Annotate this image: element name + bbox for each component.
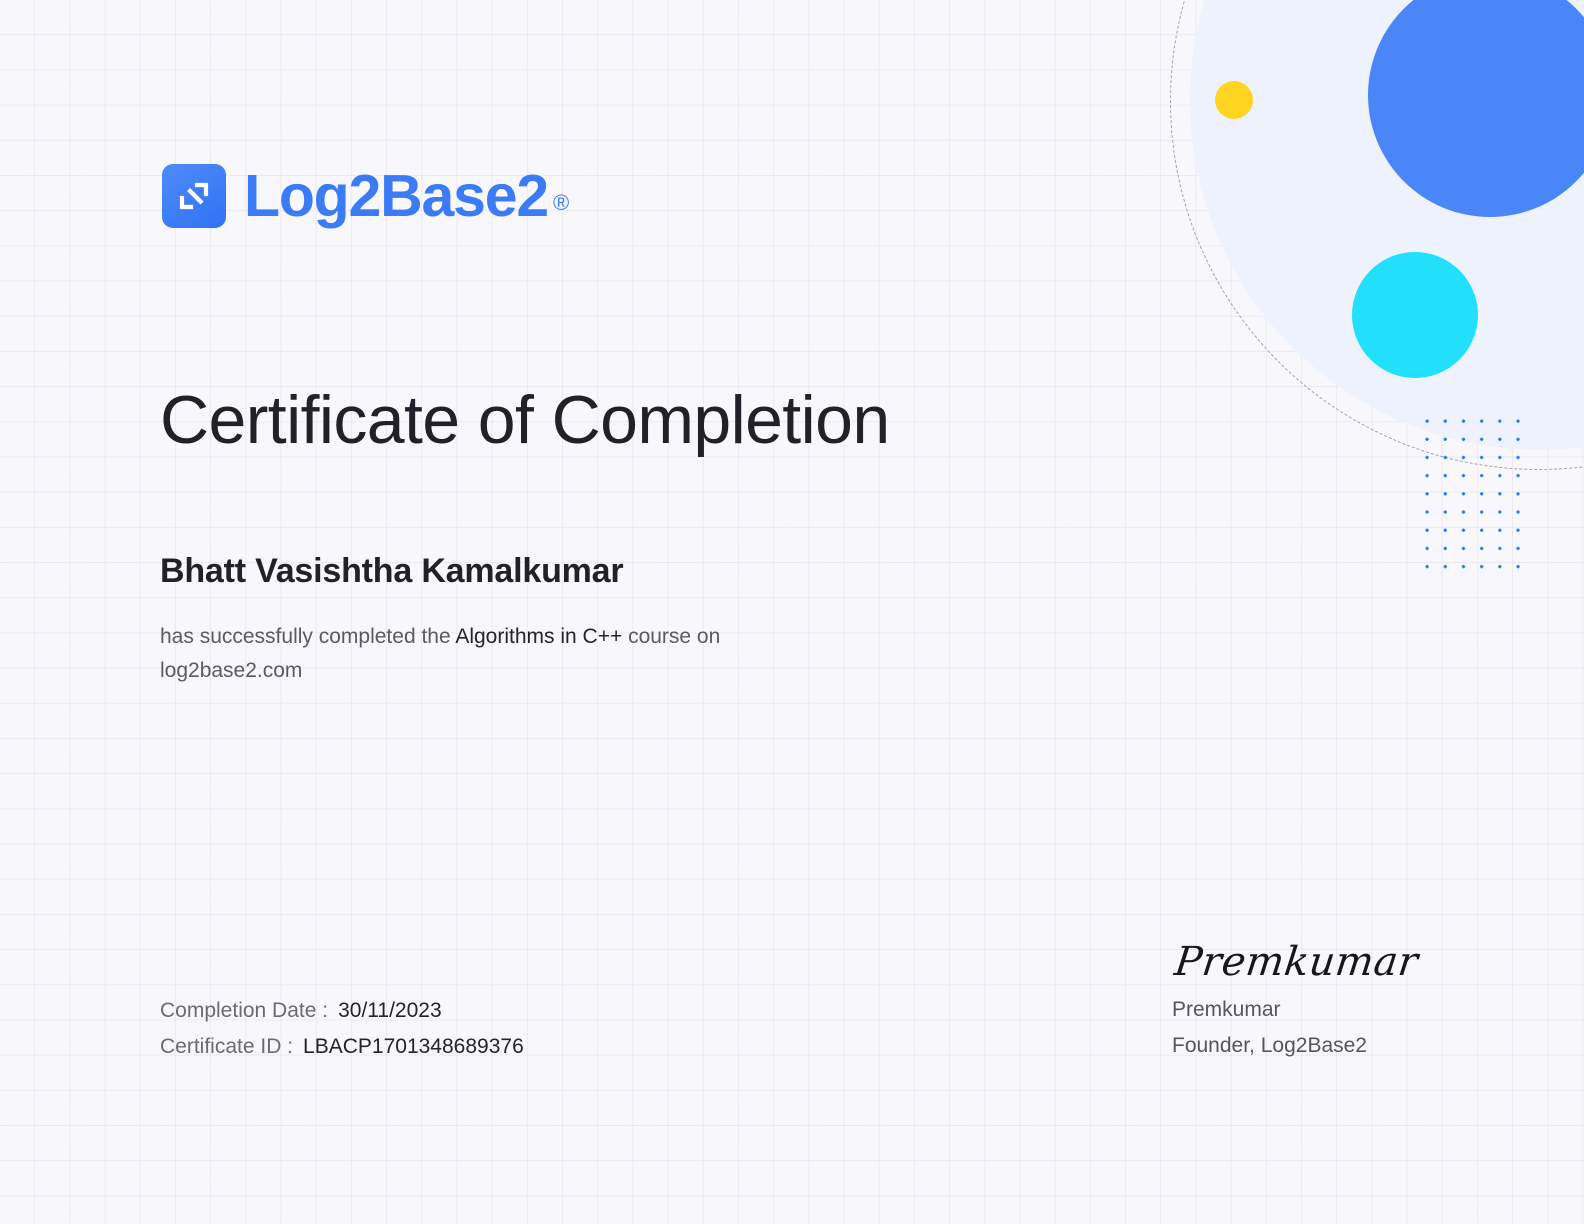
completion-date-label: Completion Date : [160,993,328,1029]
expand-arrow-icon [162,164,226,228]
signatory-role: Founder, Log2Base2 [1172,1028,1502,1064]
certificate-content: Log2Base2 ® Certificate of Completion Bh… [0,0,1584,1224]
certificate-id-row: Certificate ID : LBACP1701348689376 [160,1029,524,1065]
completion-date-row: Completion Date : 30/11/2023 [160,993,524,1029]
completion-statement: has successfully completed the Algorithm… [160,620,800,688]
signature-block: Premkumar Premkumar Founder, Log2Base2 [1172,938,1502,1064]
certificate-id-label: Certificate ID : [160,1029,293,1065]
certificate-meta: Completion Date : 30/11/2023 Certificate… [160,993,524,1065]
registered-trademark-icon: ® [553,192,569,214]
certificate-canvas: Log2Base2 ® Certificate of Completion Bh… [0,0,1584,1224]
completion-date-value: 30/11/2023 [338,993,442,1029]
statement-prefix: has successfully completed the [160,625,455,648]
recipient-name: Bhatt Vasishtha Kamalkumar [160,551,623,591]
certificate-title: Certificate of Completion [160,382,890,458]
signatory-name: Premkumar [1172,992,1502,1028]
signature-script: Premkumar [1172,938,1508,986]
brand-name: Log2Base2 [244,167,548,226]
brand-lockup: Log2Base2 ® [162,164,569,228]
brand-wordmark: Log2Base2 ® [244,167,569,226]
course-name: Algorithms in C++ [455,625,622,648]
certificate-id-value: LBACP1701348689376 [303,1029,524,1065]
